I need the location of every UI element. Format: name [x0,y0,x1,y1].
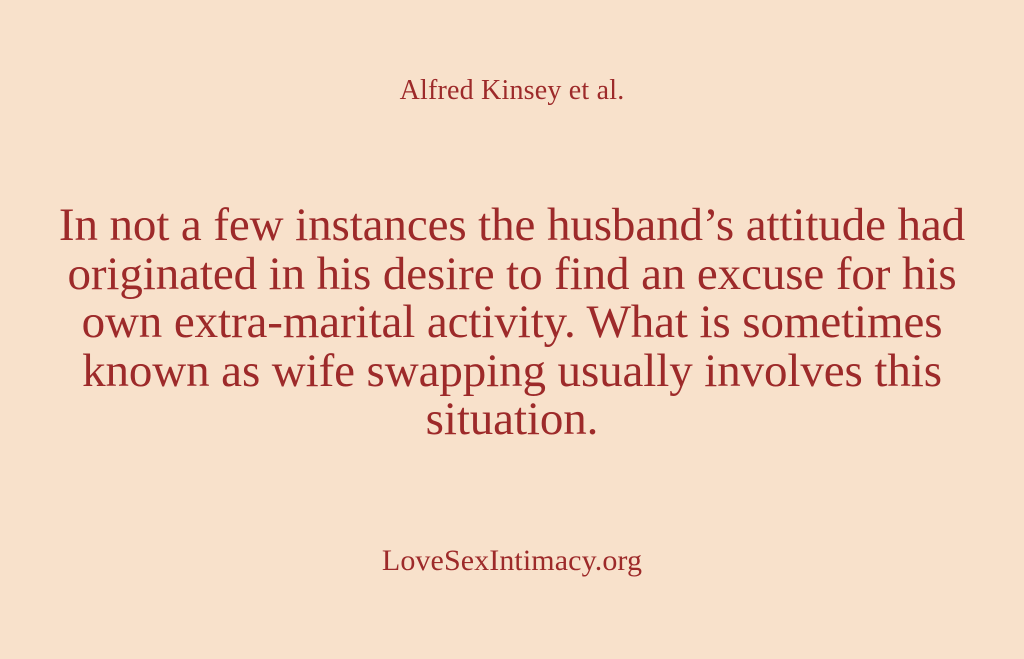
quote-author: Alfred Kinsey et al. [0,74,1024,108]
quote-card: Alfred Kinsey et al. In not a few instan… [0,0,1024,659]
quote-line: originated in his desire to find an excu… [50,250,974,299]
quote-line: known as wife swapping usually involves … [50,347,974,396]
quote-line: own extra-marital activity. What is some… [50,298,974,347]
quote-text: In not a few instances the husband’s att… [50,201,974,444]
site-attribution: LoveSexIntimacy.org [0,543,1024,579]
quote-line: In not a few instances the husband’s att… [50,201,974,250]
quote-line: situation. [50,395,974,444]
